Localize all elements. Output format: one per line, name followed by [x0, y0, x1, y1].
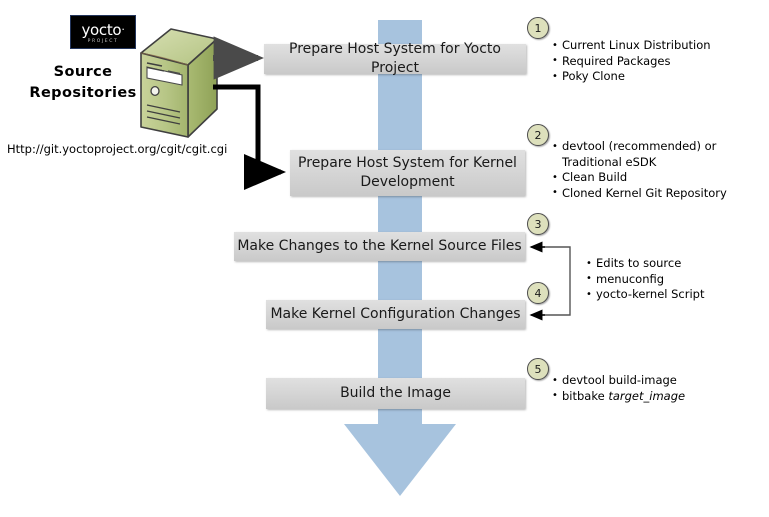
step-badge-1: 1 — [527, 17, 549, 39]
bullet-item: yocto-kernel Script — [585, 287, 705, 303]
bullet-item: bitbake target_image — [551, 389, 685, 405]
step-box-4[interactable]: Make Kernel Configuration Changes — [266, 300, 525, 329]
step-badge-3: 3 — [527, 213, 549, 235]
bullet-item: devtool (recommended) or — [551, 139, 727, 155]
yocto-logo-subtext: PROJECT — [71, 39, 135, 45]
bullet-item: Poky Clone — [551, 69, 711, 85]
yocto-project-logo: yocto· PROJECT — [70, 15, 136, 49]
step-box-5[interactable]: Build the Image — [266, 378, 525, 409]
server-tower-icon — [138, 27, 220, 139]
source-repositories-url: Http://git.yoctoproject.org/cgit/cgit.cg… — [7, 142, 227, 156]
flow-arrow-shaft — [378, 20, 422, 426]
step-box-3-label: Make Changes to the Kernel Source Files — [237, 237, 521, 256]
step-badge-5: 5 — [527, 358, 549, 380]
connector-bracket-steps-3-4 — [537, 247, 570, 315]
connector-server-to-step2 — [213, 87, 281, 172]
step-2-bullets: devtool (recommended) or Traditional eSD… — [551, 139, 727, 201]
flow-arrow-head — [344, 424, 456, 496]
bullet-item: menuconfig — [585, 272, 705, 288]
bullet-item-italic-token: target_image — [608, 389, 685, 403]
source-label-line2: Repositories — [28, 83, 138, 104]
yocto-logo-text: yocto — [81, 21, 121, 39]
step-box-2-line1: Prepare Host System for Kernel — [298, 155, 517, 171]
step-badge-2: 2 — [527, 124, 549, 146]
diagram-canvas: yocto· PROJECT Source Repositories Http:… — [0, 0, 769, 517]
bullet-item: Clean Build — [551, 170, 727, 186]
source-repositories-label: Source Repositories — [28, 62, 138, 104]
step-box-5-label: Build the Image — [340, 384, 451, 403]
bullet-item: devtool build-image — [551, 373, 685, 389]
bullet-item: Current Linux Distribution — [551, 38, 711, 54]
yocto-logo-wordmark: yocto· — [71, 16, 135, 39]
step-box-2[interactable]: Prepare Host System for Kernel Developme… — [290, 150, 525, 196]
step-5-bullets: devtool build-image bitbake target_image — [551, 373, 685, 404]
source-label-line1: Source — [28, 62, 138, 83]
step-badge-4: 4 — [527, 282, 549, 304]
step-box-2-line2: Development — [360, 174, 454, 190]
bullet-item-continuation: Traditional eSDK — [551, 155, 727, 171]
steps-3-4-shared-bullets: Edits to source menuconfig yocto-kernel … — [585, 256, 705, 303]
yocto-logo-dot: · — [121, 23, 124, 36]
step-1-bullets: Current Linux Distribution Required Pack… — [551, 38, 711, 85]
step-box-1-label: Prepare Host System for Yocto Project — [264, 40, 526, 78]
step-box-4-label: Make Kernel Configuration Changes — [270, 305, 520, 324]
step-box-1[interactable]: Prepare Host System for Yocto Project — [264, 44, 526, 74]
bullet-item: Required Packages — [551, 54, 711, 70]
bullet-item: Cloned Kernel Git Repository — [551, 186, 727, 202]
step-box-2-label: Prepare Host System for Kernel Developme… — [298, 154, 517, 192]
step-box-3[interactable]: Make Changes to the Kernel Source Files — [234, 232, 525, 261]
bullet-item: Edits to source — [585, 256, 705, 272]
bullet-item-prefix: bitbake — [562, 389, 608, 403]
